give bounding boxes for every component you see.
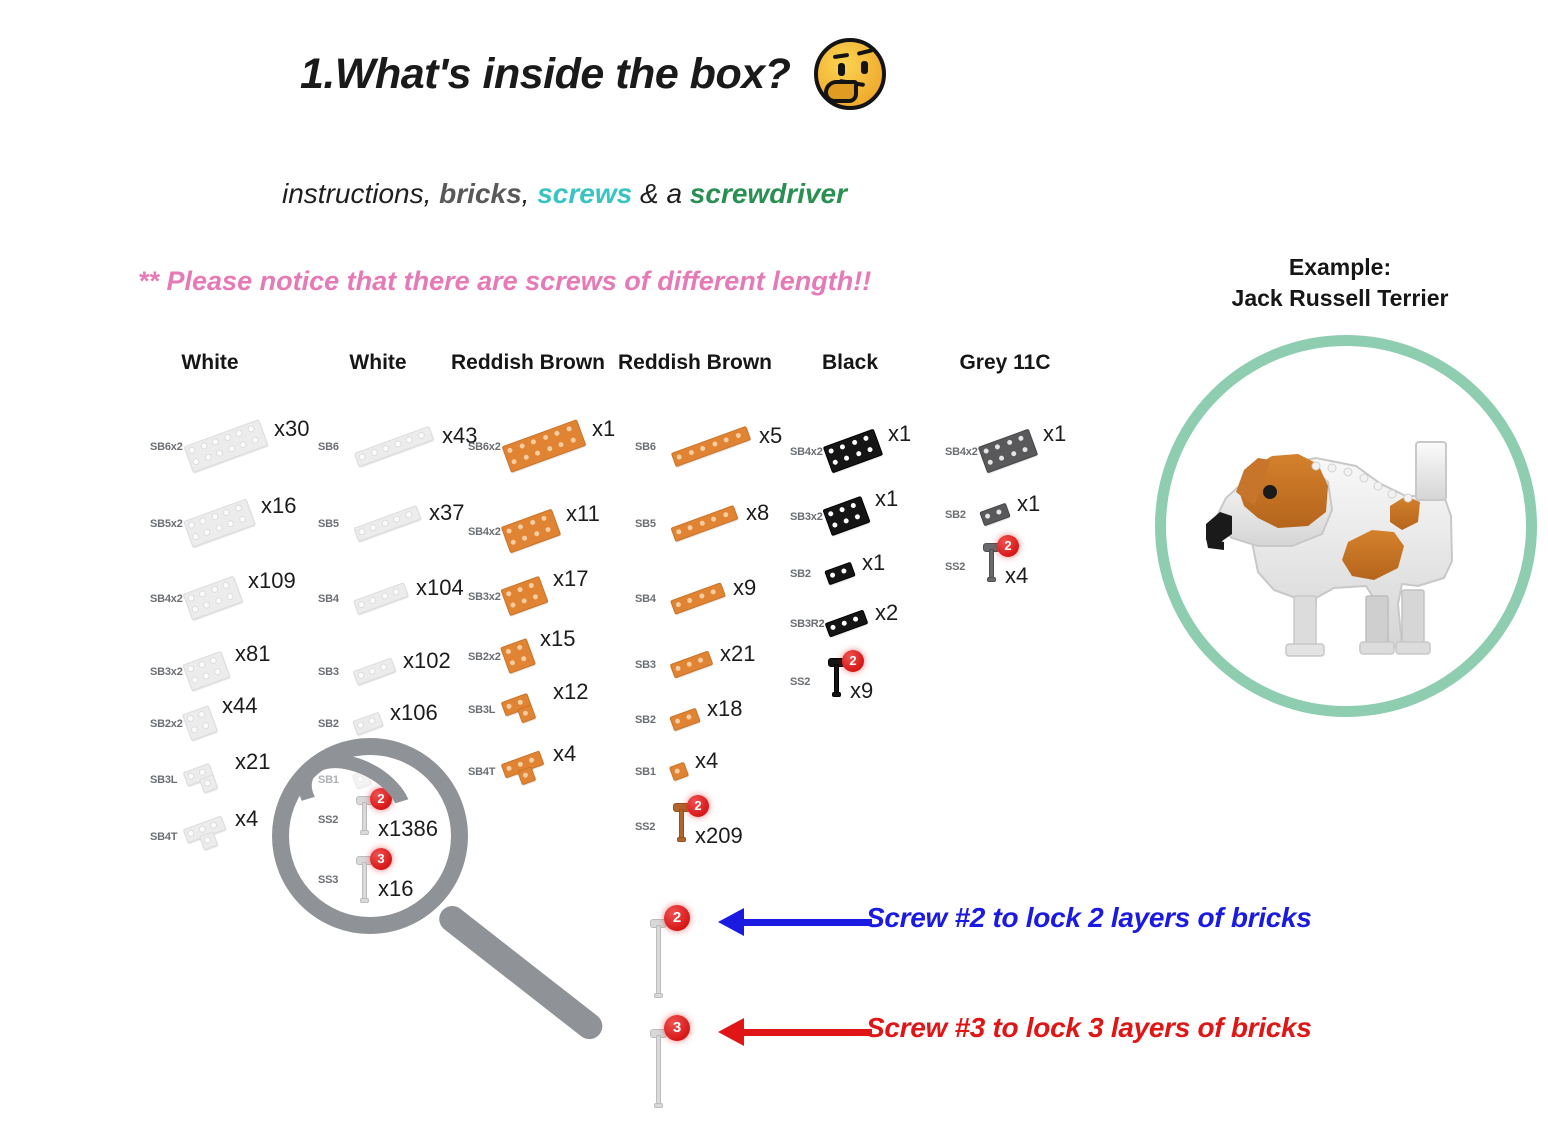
part-code-label: SS2: [945, 561, 965, 573]
part-code-label: SB2x2: [468, 651, 501, 663]
part-code-label: SB4x2: [790, 446, 823, 458]
brick-piece: [500, 638, 536, 674]
part-code-label: SB2: [318, 718, 339, 730]
subtitle-instructions: instructions,: [282, 178, 439, 209]
column-header-white: White: [130, 350, 290, 375]
example-caption: Example: Jack Russell Terrier: [1200, 252, 1480, 314]
part-quantity: x1: [592, 416, 615, 442]
example-breed: Jack Russell Terrier: [1200, 283, 1480, 314]
part-row: SS22x9: [790, 650, 950, 710]
part-quantity: x5: [759, 423, 782, 449]
part-code-label: SB4: [318, 593, 339, 605]
part-quantity: x1: [875, 486, 898, 512]
part-quantity: x16: [378, 876, 413, 902]
brick-piece: [978, 429, 1038, 474]
brick-piece: [671, 425, 751, 466]
part-row: SB4x104: [318, 567, 478, 627]
part-row: SB4Tx4: [150, 805, 310, 865]
part-code-label: SB1: [318, 774, 339, 786]
part-code-label: SB5: [318, 518, 339, 530]
part-code-label: SB5x2: [150, 518, 183, 530]
part-row: SS33x16: [318, 848, 478, 908]
subtitle-sep1: ,: [522, 178, 538, 209]
subtitle-screwdriver: screwdriver: [690, 178, 847, 209]
part-code-label: SB4: [635, 593, 656, 605]
brick-piece: [183, 759, 229, 797]
part-code-label: SB1: [635, 766, 656, 778]
part-row: SB4x2x11: [468, 500, 628, 560]
brick-piece: [353, 582, 409, 615]
screw-number-badge: 2: [842, 650, 864, 672]
part-row: SB2x2x15: [468, 625, 628, 685]
example-label: Example:: [1200, 252, 1480, 283]
part-code-label: SS3: [318, 874, 338, 886]
part-code-label: SB3x2: [790, 511, 823, 523]
page-title: 1.What's inside the box?: [300, 50, 790, 99]
brick-piece: [501, 689, 547, 727]
column-header-reddish-brown: Reddish Brown: [615, 350, 775, 375]
part-row: SB6x2x30: [150, 415, 310, 475]
screw-piece: [648, 915, 670, 1003]
part-code-label: SB3L: [150, 774, 177, 786]
subtitle-bricks: bricks: [439, 178, 522, 209]
part-quantity: x1: [1017, 491, 1040, 517]
brick-piece: [183, 576, 243, 621]
part-row: SB6x5: [635, 415, 795, 475]
part-code-label: SB2: [945, 509, 966, 521]
part-code-label: SB3x2: [150, 666, 183, 678]
part-quantity: x30: [274, 416, 309, 442]
part-code-label: SB6: [635, 441, 656, 453]
part-code-label: SB4x2: [468, 526, 501, 538]
screw-number-badge: 2: [370, 788, 392, 810]
part-quantity: x4: [553, 741, 576, 767]
brick-piece: [353, 504, 421, 541]
part-quantity: x104: [416, 575, 464, 601]
column-header-grey-11c: Grey 11C: [925, 350, 1085, 375]
part-quantity: x16: [261, 493, 296, 519]
part-quantity: x4: [1005, 563, 1028, 589]
part-row: SB3x21: [635, 633, 795, 693]
part-code-label: SB4x2: [150, 593, 183, 605]
part-quantity: x18: [707, 696, 742, 722]
brick-piece: [183, 816, 229, 854]
part-row: SB5x8: [635, 492, 795, 552]
part-code-label: SS2: [635, 821, 655, 833]
column-header-white: White: [298, 350, 458, 375]
part-code-label: SB3L: [468, 704, 495, 716]
brick-piece: [182, 705, 218, 741]
part-code-label: SB6x2: [468, 441, 501, 453]
brick-piece: [670, 650, 714, 678]
subtitle-screws: screws: [537, 178, 632, 209]
screw-piece: [648, 1025, 670, 1113]
part-quantity: x17: [553, 566, 588, 592]
legend-label: Screw #2 to lock 2 layers of bricks: [866, 902, 1312, 934]
part-quantity: x4: [695, 748, 718, 774]
part-quantity: x9: [733, 575, 756, 601]
screw-number-badge: 2: [664, 905, 690, 931]
part-row: SB2x106: [318, 692, 478, 752]
part-row: SB2x2x44: [150, 692, 310, 752]
brick-piece: [669, 761, 689, 781]
jack-russell-terrier-brick-model: [1166, 346, 1526, 706]
brick-piece: [501, 509, 561, 554]
part-quantity: x21: [235, 749, 270, 775]
part-row: SB1x4: [635, 740, 795, 800]
part-row: SB3Lx12: [468, 678, 628, 738]
part-row: SB3x2x81: [150, 640, 310, 700]
part-quantity: x106: [390, 700, 438, 726]
part-code-label: SB6: [318, 441, 339, 453]
part-code-label: SB3: [318, 666, 339, 678]
brick-piece: [669, 707, 700, 731]
part-quantity: x21: [720, 641, 755, 667]
part-row: SB5x2x16: [150, 492, 310, 552]
brick-piece: [352, 711, 383, 735]
part-row: SB3R2x2: [790, 592, 950, 652]
part-row: SB2x1: [945, 483, 1105, 543]
part-row: SB4x2x1: [945, 420, 1105, 480]
part-code-label: SS2: [790, 676, 810, 688]
part-quantity: x12: [553, 679, 588, 705]
part-code-label: SB5: [635, 518, 656, 530]
part-quantity: x1: [1043, 421, 1066, 447]
part-row: SB4x2x109: [150, 567, 310, 627]
brick-piece: [353, 657, 397, 685]
contents-subtitle: instructions, bricks, screws & a screwdr…: [282, 178, 847, 210]
part-quantity: x209: [695, 823, 743, 849]
legend-label: Screw #3 to lock 3 layers of bricks: [866, 1012, 1312, 1044]
part-code-label: SB6x2: [150, 441, 183, 453]
part-row: SB3x2x1: [790, 485, 950, 545]
part-quantity: x1386: [378, 816, 438, 842]
brick-piece: [500, 576, 548, 616]
column-header-reddish-brown: Reddish Brown: [448, 350, 608, 375]
part-code-label: SB3x2: [468, 591, 501, 603]
brick-piece: [501, 751, 547, 789]
part-code-label: SB4T: [150, 831, 177, 843]
part-row: SB4x2x1: [790, 420, 950, 480]
screw-number-badge: 2: [687, 795, 709, 817]
brick-piece: [823, 429, 883, 474]
part-quantity: x8: [746, 500, 769, 526]
part-row: SB6x43: [318, 415, 478, 475]
brick-piece: [824, 561, 855, 585]
brick-piece: [183, 498, 256, 547]
part-quantity: x1: [862, 550, 885, 576]
title-row: 1.What's inside the box?: [300, 38, 886, 110]
part-code-label: SB4x2: [945, 446, 978, 458]
part-row: SB4x9: [635, 567, 795, 627]
part-quantity: x44: [222, 693, 257, 719]
part-row: SB5x37: [318, 492, 478, 552]
part-row: SB2x18: [635, 688, 795, 748]
brick-piece: [670, 582, 726, 615]
part-row: SS22x209: [635, 795, 795, 855]
brick-piece: [670, 504, 738, 541]
part-code-label: SB4T: [468, 766, 495, 778]
part-row: SB3Lx21: [150, 748, 310, 808]
part-quantity: x1: [888, 421, 911, 447]
brick-piece: [822, 496, 870, 536]
part-code-label: SB3: [635, 659, 656, 671]
part-row: SB3x102: [318, 640, 478, 700]
part-quantity: x109: [248, 568, 296, 594]
part-quantity: x2: [875, 600, 898, 626]
brick-piece: [825, 609, 869, 637]
brick-piece: [182, 651, 230, 691]
part-row: SB6x2x1: [468, 415, 628, 475]
part-row: SS22x4: [945, 535, 1105, 595]
part-quantity: x102: [403, 648, 451, 674]
subtitle-sep2: & a: [632, 178, 690, 209]
part-code-label: SS2: [318, 814, 338, 826]
part-code-label: SB2: [635, 714, 656, 726]
brick-piece: [354, 425, 434, 466]
thinking-face-emoji: [814, 38, 886, 110]
brick-piece: [352, 769, 372, 789]
screw-number-badge: 3: [370, 848, 392, 870]
example-circle-frame: [1155, 335, 1537, 717]
column-header-black: Black: [770, 350, 930, 375]
part-code-label: SB2: [790, 568, 811, 580]
brick-piece: [184, 419, 269, 473]
screw-length-notice: ** Please notice that there are screws o…: [138, 266, 871, 297]
instruction-sheet: 1.What's inside the box? instructions, b…: [0, 0, 1548, 1146]
part-quantity: x11: [566, 501, 600, 527]
part-code-label: SB2x2: [150, 718, 183, 730]
brick-piece: [502, 419, 587, 473]
part-row: SB3x2x17: [468, 565, 628, 625]
part-row: SS22x1386: [318, 788, 478, 848]
part-quantity: x81: [235, 641, 270, 667]
screw-number-badge: 3: [664, 1015, 690, 1041]
brick-piece: [979, 502, 1010, 526]
part-quantity: x15: [540, 626, 575, 652]
part-quantity: x37: [429, 500, 464, 526]
part-row: SB4Tx4: [468, 740, 628, 800]
part-code-label: SB3R2: [790, 618, 824, 630]
screw-number-badge: 2: [997, 535, 1019, 557]
part-quantity: x4: [235, 806, 258, 832]
part-quantity: x9: [850, 678, 873, 704]
